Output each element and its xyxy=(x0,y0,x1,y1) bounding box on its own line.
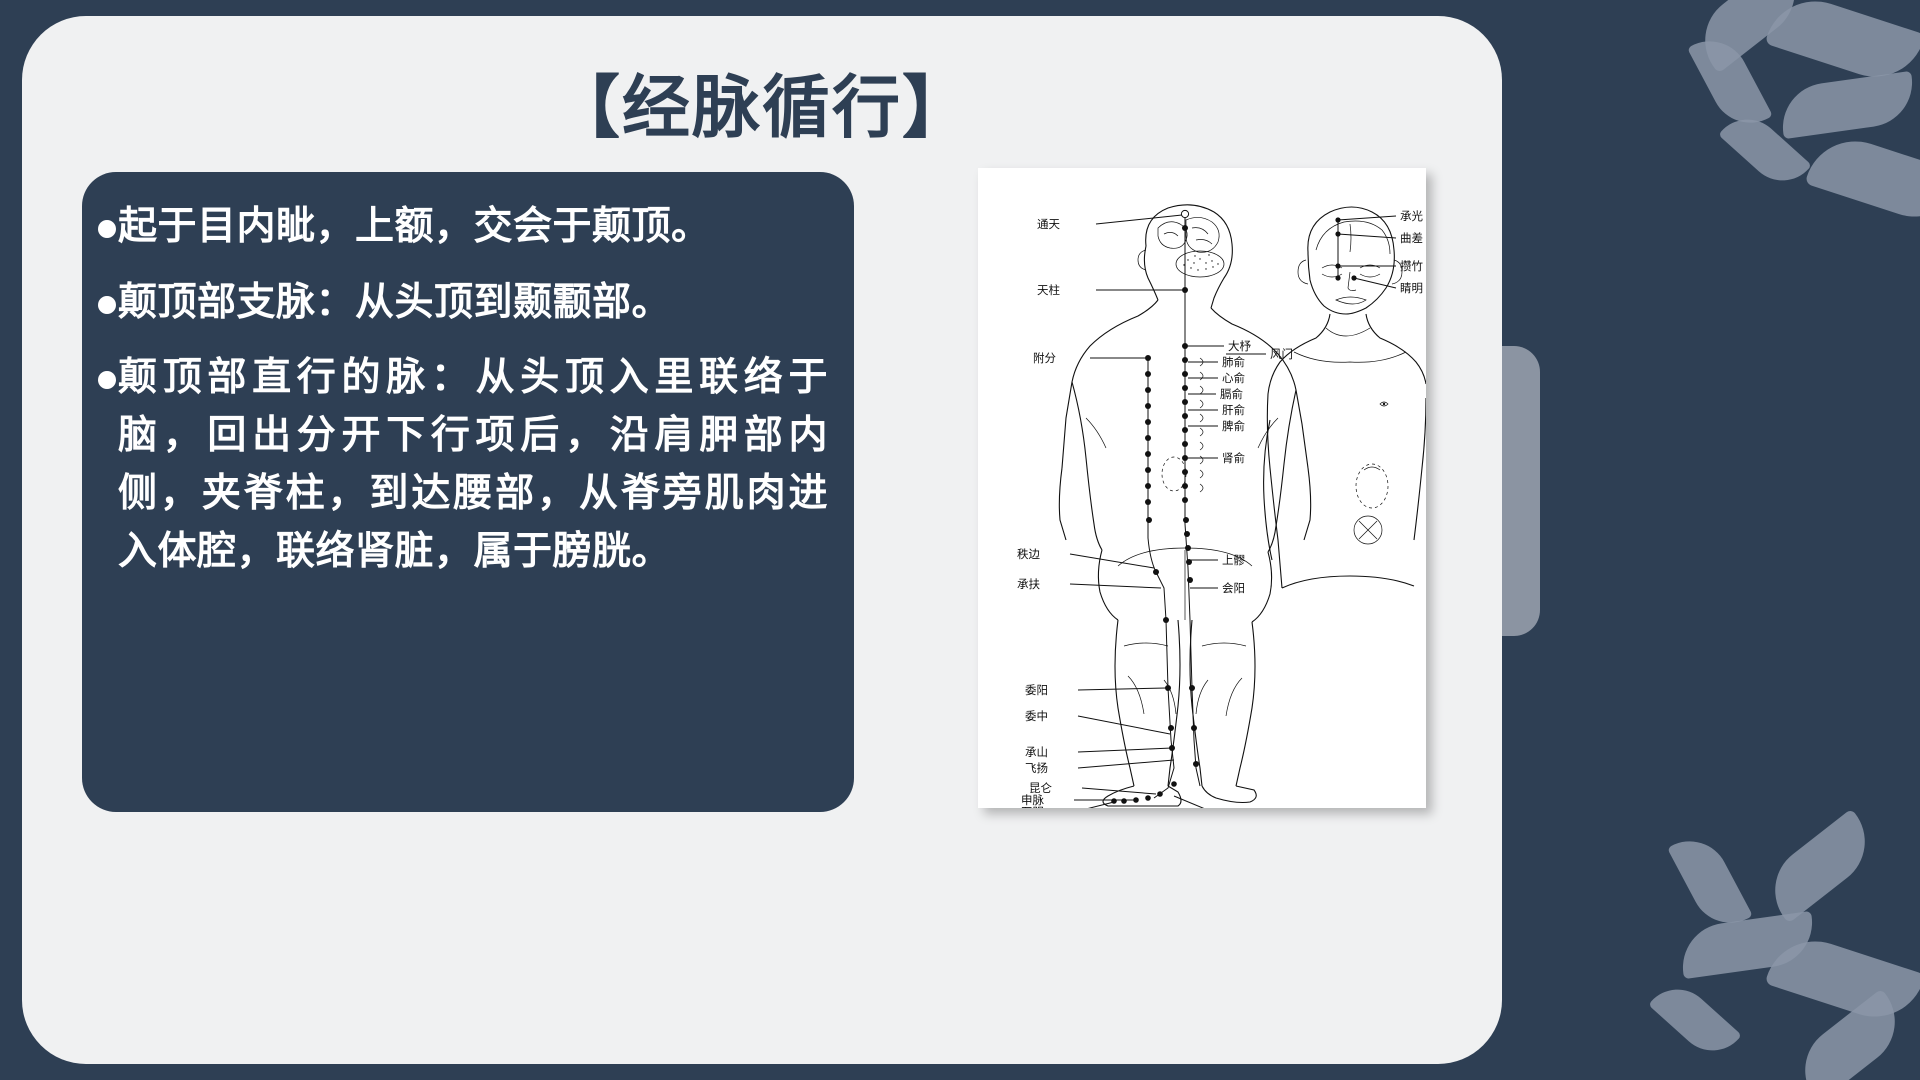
diagram-label: 秩边 xyxy=(1017,548,1040,561)
diagram-label: 肺俞 xyxy=(1222,355,1245,369)
diagram-label: 承光 xyxy=(1400,209,1423,223)
diagram-label: 天柱 xyxy=(1037,283,1060,297)
diagram-label: 委中 xyxy=(1025,710,1048,723)
page-title: 【经脉循行】 xyxy=(22,52,1502,151)
list-item: 颠顶部支脉：从头顶到颞颥部。 xyxy=(96,274,828,332)
diagram-label: 至阴 xyxy=(1021,806,1044,808)
diagram-label: 心俞 xyxy=(1222,371,1245,385)
diagram-label: 肾俞 xyxy=(1222,451,1245,465)
diagram-label: 膈俞 xyxy=(1220,387,1243,401)
diagram-label: 飞扬 xyxy=(1025,761,1048,775)
diagram-label: 风门 xyxy=(1270,347,1293,361)
diagram-label: 昆仑 xyxy=(1029,781,1052,795)
bullet-card: 起于目内眦，上额，交会于颠顶。 颠顶部支脉：从头顶到颞颥部。 颠顶部直行的脉：从… xyxy=(82,172,854,812)
decorative-corner-top-right xyxy=(1660,0,1920,220)
bullet-dot-icon xyxy=(98,296,116,314)
decorative-corner-bottom-right xyxy=(1620,840,1920,1080)
diagram-label: 肝俞 xyxy=(1222,403,1245,417)
diagram-label: 大杼 xyxy=(1228,339,1251,353)
diagram-label: 睛明 xyxy=(1400,282,1423,295)
bullet-text: 起于目内眦，上额，交会于颠顶。 xyxy=(118,198,828,256)
diagram-label: 会阳 xyxy=(1222,582,1245,595)
diagram-label: 上髎 xyxy=(1222,554,1245,567)
slide-root: 【经脉循行】 起于目内眦，上额，交会于颠顶。 颠顶部支脉：从头顶到颞颥部。 颠顶… xyxy=(0,0,1920,1080)
diagram-label: 委阳 xyxy=(1025,684,1048,697)
diagram-label: 脾俞 xyxy=(1222,419,1245,433)
bladder-meridian-diagram: 通天 天柱 附分 秩边 承扶 委阳 委中 承山 飞扬 昆仑 申脉 至阴 xyxy=(978,168,1426,808)
diagram-label: 通天 xyxy=(1037,218,1060,231)
bullet-text: 颠顶部支脉：从头顶到颞颥部。 xyxy=(118,274,828,332)
diagram-label: 申脉 xyxy=(1021,793,1044,807)
diagram-label: 承山 xyxy=(1025,746,1048,759)
diagram-label: 攒竹 xyxy=(1400,259,1423,273)
diagram-label: 曲差 xyxy=(1400,231,1423,245)
list-item: 颠顶部直行的脉：从头顶入里联络于脑，回出分开下行项后，沿肩胛部内侧，夹脊柱，到达… xyxy=(96,349,828,580)
bullet-dot-icon xyxy=(98,371,116,389)
bullet-text: 颠顶部直行的脉：从头顶入里联络于脑，回出分开下行项后，沿肩胛部内侧，夹脊柱，到达… xyxy=(118,349,828,580)
anatomy-diagram-card: 通天 天柱 附分 秩边 承扶 委阳 委中 承山 飞扬 昆仑 申脉 至阴 xyxy=(978,168,1426,808)
bullet-dot-icon xyxy=(98,220,116,238)
diagram-label: 附分 xyxy=(1033,351,1056,365)
diagram-label: 承扶 xyxy=(1017,577,1040,591)
list-item: 起于目内眦，上额，交会于颠顶。 xyxy=(96,198,828,256)
